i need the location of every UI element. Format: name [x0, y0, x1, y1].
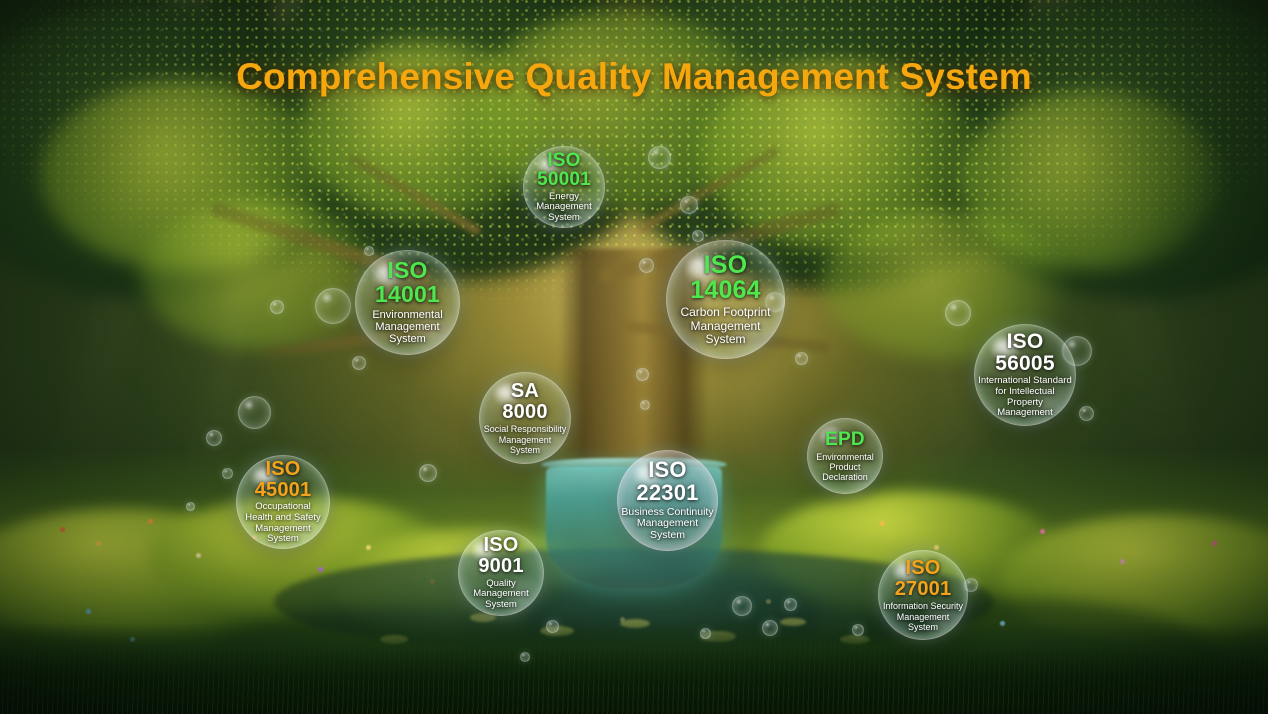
- decorative-bubble: [222, 468, 233, 479]
- standard-description: Business Continuity Management System: [621, 507, 713, 542]
- decorative-bubble: [692, 230, 704, 242]
- standard-code: ISO9001: [478, 535, 523, 576]
- standard-bubble-iso-14064[interactable]: ISO14064Carbon Footprint Management Syst…: [666, 240, 785, 359]
- decorative-bubble: [364, 246, 374, 256]
- standard-bubble-iso-9001[interactable]: ISO9001Quality Management System: [458, 530, 544, 616]
- decorative-bubble: [732, 596, 752, 616]
- decorative-bubble: [270, 300, 284, 314]
- standard-bubble-iso-14001[interactable]: ISO14001Environmental Management System: [355, 250, 460, 355]
- standard-description: Occupational Health and Safety Managemen…: [245, 502, 321, 545]
- standard-code: ISO27001: [895, 558, 952, 599]
- decorative-bubble: [419, 464, 437, 482]
- standard-bubble-iso-22301[interactable]: ISO22301Business Continuity Management S…: [617, 450, 718, 551]
- decorative-bubble: [648, 146, 671, 169]
- standard-code: EPD: [825, 430, 865, 450]
- standard-code: ISO14064: [690, 253, 761, 305]
- decorative-bubble: [795, 352, 808, 365]
- standard-description: Environmental Product Declaration: [816, 452, 874, 482]
- decorative-bubble: [636, 368, 649, 381]
- decorative-bubble: [680, 196, 698, 214]
- decorative-bubble: [700, 628, 711, 639]
- decorative-bubble: [315, 288, 351, 324]
- decorative-bubble: [852, 624, 864, 636]
- standard-bubble-sa-8000[interactable]: SA8000Social Responsibility Management S…: [479, 372, 571, 464]
- decorative-bubble: [206, 430, 222, 446]
- decorative-bubble: [186, 502, 195, 511]
- decorative-bubble: [546, 620, 559, 633]
- decorative-bubble: [639, 258, 654, 273]
- standard-code: ISO50001: [537, 151, 591, 190]
- standard-description: Social Responsibility Management System: [484, 424, 567, 454]
- standard-description: Energy Management System: [536, 192, 591, 224]
- standard-description: Environmental Management System: [372, 309, 442, 346]
- standard-bubble-iso-50001[interactable]: ISO50001Energy Management System: [523, 146, 605, 228]
- standard-bubble-epd[interactable]: EPDEnvironmental Product Declaration: [807, 418, 883, 494]
- page-title: Comprehensive Quality Management System: [0, 56, 1268, 98]
- decorative-bubble: [352, 356, 366, 370]
- standard-code: ISO22301: [636, 459, 698, 504]
- decorative-bubble: [945, 300, 971, 326]
- decorative-bubble: [762, 620, 778, 636]
- decorative-bubble: [520, 652, 530, 662]
- standard-code: ISO45001: [255, 459, 312, 500]
- standard-description: International Standard for Intellectual …: [978, 376, 1071, 419]
- foreground-grass: [0, 622, 1268, 714]
- standard-code: SA8000: [502, 381, 547, 422]
- standard-bubble-iso-45001[interactable]: ISO45001Occupational Health and Safety M…: [236, 455, 330, 549]
- decorative-bubble: [1079, 406, 1094, 421]
- standard-description: Carbon Footprint Management System: [680, 306, 770, 346]
- standard-bubble-iso-27001[interactable]: ISO27001Information Security Management …: [878, 550, 968, 640]
- standard-code: ISO56005: [995, 331, 1054, 374]
- infographic-canvas: Comprehensive Quality Management System …: [0, 0, 1268, 714]
- decorative-bubble: [238, 396, 271, 429]
- standard-bubble-iso-56005[interactable]: ISO56005International Standard for Intel…: [974, 324, 1076, 426]
- standard-description: Information Security Management System: [883, 601, 963, 631]
- decorative-bubble: [784, 598, 797, 611]
- standard-description: Quality Management System: [473, 579, 528, 611]
- standard-code: ISO14001: [375, 259, 440, 306]
- decorative-bubble: [640, 400, 650, 410]
